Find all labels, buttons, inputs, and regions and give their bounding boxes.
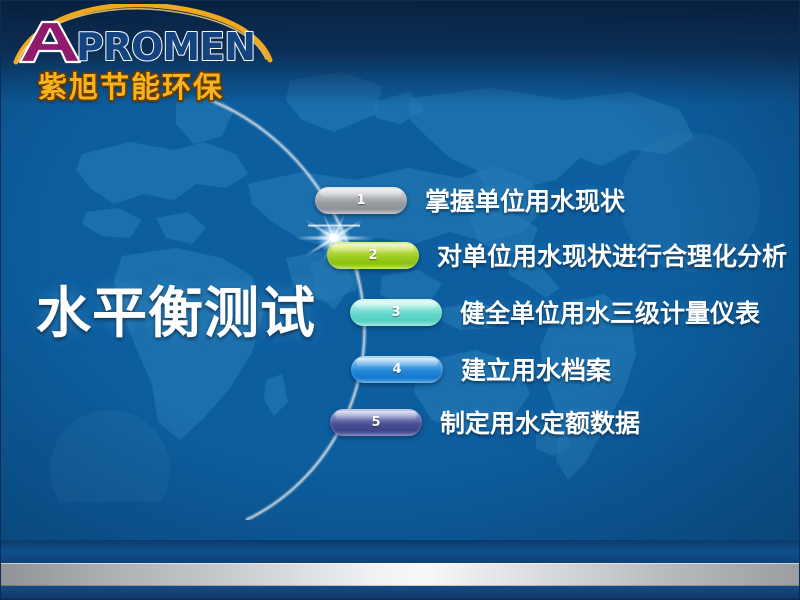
step-badge-2[interactable]: 2 (327, 242, 419, 269)
step-label: 健全单位用水三级计量仪表 (460, 294, 760, 330)
logo-chinese-name: 紫旭节能环保 (38, 64, 224, 106)
list-item[interactable]: 2 对单位用水现状进行合理化分析 (327, 237, 787, 273)
step-badge-4[interactable]: 4 (351, 356, 443, 383)
page-title: 水平衡测试 (36, 268, 316, 348)
step-badge-1[interactable]: 1 (315, 187, 407, 214)
list-item[interactable]: 4 建立用水档案 (351, 351, 611, 387)
footer-top-bar (0, 540, 800, 564)
step-badge-3[interactable]: 3 (350, 299, 442, 326)
logo-wordmark: PROMEN (12, 16, 274, 64)
step-label: 制定用水定额数据 (440, 404, 640, 440)
step-number: 3 (391, 305, 400, 320)
presentation-slide: PROMEN 紫旭节能环保 水平衡测试 (0, 0, 800, 600)
step-number: 4 (392, 362, 401, 377)
footer-silver-bar (0, 563, 800, 586)
step-badge-5[interactable]: 5 (330, 409, 422, 436)
list-item[interactable]: 3 健全单位用水三级计量仪表 (350, 294, 760, 330)
list-item[interactable]: 1 掌握单位用水现状 (315, 182, 625, 218)
step-number: 5 (371, 415, 380, 430)
step-label: 对单位用水现状进行合理化分析 (437, 237, 787, 273)
footer-bottom-bar (0, 586, 800, 600)
company-logo: PROMEN 紫旭节能环保 (8, 4, 276, 108)
step-number: 1 (356, 193, 365, 208)
step-label: 掌握单位用水现状 (425, 182, 625, 218)
step-number: 2 (368, 248, 377, 263)
list-item[interactable]: 5 制定用水定额数据 (330, 404, 640, 440)
step-label: 建立用水档案 (461, 351, 611, 387)
svg-text:PROMEN: PROMEN (76, 25, 255, 64)
